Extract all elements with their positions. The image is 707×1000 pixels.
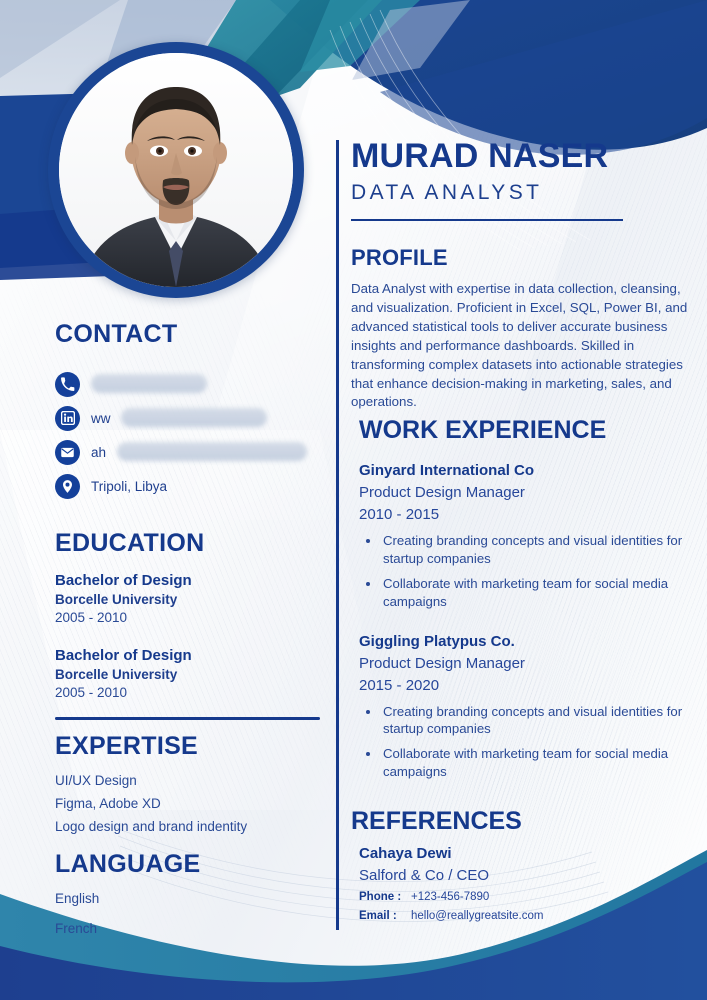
reference-email-value: hello@reallygreatsite.com (411, 910, 543, 922)
header-divider (351, 219, 623, 222)
expertise-item: Logo design and brand indentity (55, 819, 330, 834)
education-years: 2005 - 2010 (55, 685, 330, 700)
redaction-bar-linkedin (121, 408, 267, 427)
reference-phone-row: Phone : +123-456-7890 (359, 891, 691, 903)
work-company: Giggling Platypus Co. (359, 633, 691, 650)
work-company: Ginyard International Co (359, 462, 691, 479)
reference-phone-label: Phone : (359, 891, 411, 903)
contact-item-location[interactable]: Tripoli, Libya (55, 469, 330, 503)
education-degree: Bachelor of Design (55, 572, 330, 589)
redaction-bar-phone (91, 374, 207, 393)
contact-item-phone[interactable] (55, 367, 330, 401)
language-heading: LANGUAGE (55, 850, 330, 879)
work-role: Product Design Manager (359, 484, 691, 501)
reference-phone-value: +123-456-7890 (411, 891, 489, 903)
language-item: English (55, 891, 330, 906)
work-bullets: Creating branding concepts and visual id… (381, 703, 691, 781)
reference-email-row: Email : hello@reallygreatsite.com (359, 910, 691, 922)
language-list: English French (55, 891, 330, 936)
education-school: Borcelle University (55, 592, 330, 607)
profile-photo (59, 53, 293, 287)
phone-icon (55, 372, 80, 397)
education-years: 2005 - 2010 (55, 610, 330, 625)
work-bullet: Creating branding concepts and visual id… (381, 532, 691, 568)
references-heading: REFERENCES (351, 807, 691, 836)
column-divider (336, 140, 339, 930)
education-school: Borcelle University (55, 667, 330, 682)
work-item: Giggling Platypus Co. Product Design Man… (359, 633, 691, 781)
work-experience-heading: WORK EXPERIENCE (359, 416, 691, 445)
portrait-illustration (59, 53, 293, 287)
profile-body: Data Analyst with expertise in data coll… (351, 280, 691, 412)
contact-heading: CONTACT (55, 320, 330, 349)
work-years: 2010 - 2015 (359, 506, 691, 523)
work-role: Product Design Manager (359, 655, 691, 672)
contact-value-email: ah (91, 445, 106, 460)
redaction-bar-email (117, 442, 307, 461)
work-bullet: Creating branding concepts and visual id… (381, 703, 691, 739)
expertise-item: Figma, Adobe XD (55, 796, 330, 811)
education-list: Bachelor of Design Borcelle University 2… (55, 572, 330, 700)
contact-value-linkedin: ww (91, 411, 111, 426)
education-heading: EDUCATION (55, 529, 330, 558)
expertise-list: UI/UX Design Figma, Adobe XD Logo design… (55, 773, 330, 834)
contact-value-location: Tripoli, Libya (91, 479, 167, 494)
expertise-item: UI/UX Design (55, 773, 330, 788)
reference-item: Cahaya Dewi Salford & Co / CEO Phone : +… (359, 845, 691, 922)
main-content: MURAD NASER DATA ANALYST PROFILE Data An… (351, 138, 691, 922)
contact-list: ww ah (0, 367, 330, 503)
email-icon (55, 440, 80, 465)
resume-page: CONTACT (0, 0, 707, 1000)
linkedin-icon (55, 406, 80, 431)
expertise-divider (55, 717, 320, 720)
sidebar: CONTACT (0, 320, 330, 951)
education-item: Bachelor of Design Borcelle University 2… (55, 647, 330, 700)
education-item: Bachelor of Design Borcelle University 2… (55, 572, 330, 625)
reference-company: Salford & Co / CEO (359, 867, 691, 884)
contact-item-linkedin[interactable]: ww (55, 401, 330, 435)
reference-name: Cahaya Dewi (359, 845, 691, 862)
work-bullet: Collaborate with marketing team for soci… (381, 575, 691, 611)
reference-email-label: Email : (359, 910, 411, 922)
contact-item-email[interactable]: ah (55, 435, 330, 469)
language-item: French (55, 921, 330, 936)
profile-heading: PROFILE (351, 245, 691, 271)
work-bullets: Creating branding concepts and visual id… (381, 532, 691, 610)
profile-photo-ring (48, 42, 304, 298)
work-years: 2015 - 2020 (359, 677, 691, 694)
page-title: MURAD NASER (351, 138, 691, 175)
location-icon (55, 474, 80, 499)
job-title: DATA ANALYST (351, 181, 691, 205)
work-item: Ginyard International Co Product Design … (359, 462, 691, 610)
work-bullet: Collaborate with marketing team for soci… (381, 745, 691, 781)
education-degree: Bachelor of Design (55, 647, 330, 664)
expertise-heading: EXPERTISE (55, 732, 330, 761)
